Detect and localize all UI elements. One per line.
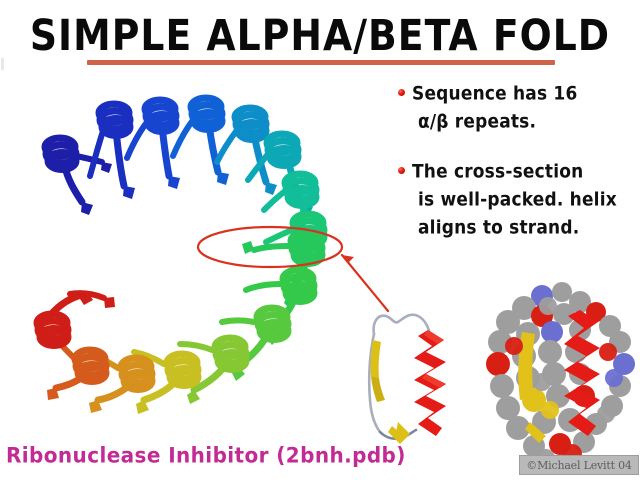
bullet-list: Sequence has 16 α/β repeats. The cross-s…	[398, 80, 640, 248]
credit-watermark: ©Michael Levitt 04	[519, 455, 639, 475]
bullet-dot-icon	[398, 167, 405, 174]
cross-section-cartoon-figure	[348, 296, 466, 452]
beta-strand-lower	[388, 422, 410, 444]
bullet-dot-icon	[398, 89, 405, 96]
bullet-line: aligns to strand.	[418, 213, 640, 243]
figure-caption: Ribonuclease Inhibitor (2bnh.pdb)	[6, 442, 406, 467]
bullet-item-sequence: Sequence has 16 α/β repeats.	[398, 80, 640, 136]
bullet-line: Sequence has 16	[412, 79, 640, 109]
bullet-line: is well-packed. helix	[418, 185, 640, 215]
highlight-ellipse	[198, 227, 342, 267]
bullet-line: α/β repeats.	[418, 107, 640, 137]
beta-strand-upper	[371, 340, 385, 402]
space-filling-model-figure	[484, 282, 636, 478]
title-block: SIMPLE ALPHA/BETA FOLD	[0, 14, 640, 52]
title-underline-rule	[87, 60, 555, 65]
bullet-line: The cross-section	[412, 157, 640, 187]
alpha-helix-ribbon	[414, 330, 446, 436]
page-title: SIMPLE ALPHA/BETA FOLD	[0, 14, 640, 58]
slide-canvas: SIMPLE ALPHA/BETA FOLD Sequence has 16 α…	[0, 0, 640, 480]
credit-text: ©Michael Levitt 04	[526, 459, 631, 472]
bullet-item-cross-section: The cross-section is well-packed. helix …	[398, 158, 640, 242]
loop-top	[374, 315, 430, 334]
edge-artifact	[1, 58, 4, 70]
